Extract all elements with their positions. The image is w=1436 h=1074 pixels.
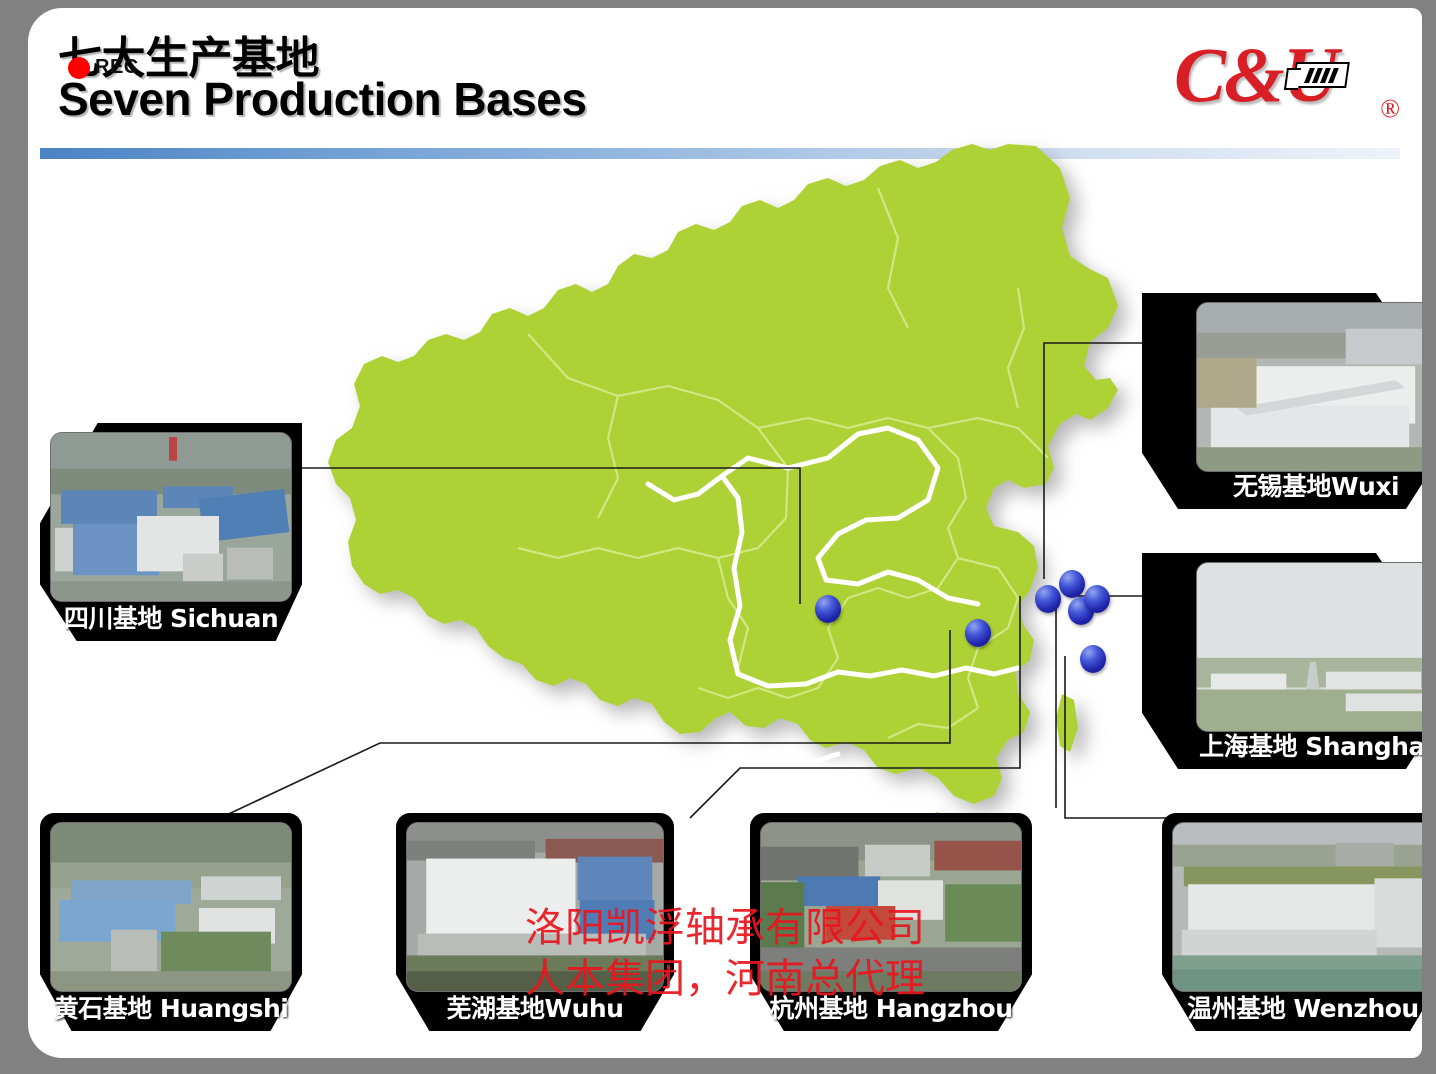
map-marker-wuxi[interactable] [1059,570,1085,598]
record-dot-icon [68,57,90,79]
slide-canvas: 七大生产基地 Seven Production Bases REC C&U ® [28,8,1422,1058]
map-marker-wenzhou[interactable] [1080,645,1106,673]
cu-logo: C&U ® [1174,34,1394,130]
map-marker-sichuan[interactable] [815,595,841,623]
base-caption-wuxi: 无锡基地Wuxi [1142,467,1422,503]
base-caption-wenzhou: 温州基地 Wenzhou [1162,989,1422,1025]
base-photo-wuhu [406,822,664,992]
base-caption-hangzhou: 杭州基地 Hangzhou [750,989,1032,1025]
bearing-icon [1292,62,1350,88]
china-map [318,128,1148,828]
base-card-shanghai[interactable]: 上海基地 Shanghai [1142,553,1422,769]
map-marker-huangshi[interactable] [965,619,991,647]
registered-trademark-icon: ® [1380,94,1400,124]
base-card-wenzhou[interactable]: 温州基地 Wenzhou [1162,813,1422,1031]
slide-outer-frame: 七大生产基地 Seven Production Bases REC C&U ® [0,0,1436,1074]
base-caption-shanghai: 上海基地 Shanghai [1142,727,1422,763]
pearl-river [748,754,838,768]
base-photo-sichuan [50,432,292,602]
base-caption-wuhu: 芜湖基地Wuhu [396,989,674,1025]
rec-indicator: REC [68,56,139,79]
base-card-wuhu[interactable]: 芜湖基地Wuhu [396,813,674,1031]
base-photo-wuxi [1196,302,1422,472]
base-photo-huangshi [50,822,292,992]
rec-label: REC [95,56,139,79]
base-photo-hangzhou [760,822,1022,992]
base-caption-sichuan: 四川基地 Sichuan [40,599,302,635]
base-caption-huangshi: 黄石基地 Huangshi [40,989,302,1025]
base-card-wuxi[interactable]: 无锡基地Wuxi [1142,293,1422,509]
map-marker-wuhu[interactable] [1035,585,1061,613]
base-photo-wenzhou [1172,822,1422,992]
base-card-sichuan[interactable]: 四川基地 Sichuan [40,423,302,641]
page-title-en: Seven Production Bases [58,72,586,126]
base-card-huangshi[interactable]: 黄石基地 Huangshi [40,813,302,1031]
map-marker-shanghai[interactable] [1084,585,1110,613]
base-photo-shanghai [1196,562,1422,732]
taiwan-island [1056,694,1078,752]
base-card-hangzhou[interactable]: 杭州基地 Hangzhou [750,813,1032,1031]
